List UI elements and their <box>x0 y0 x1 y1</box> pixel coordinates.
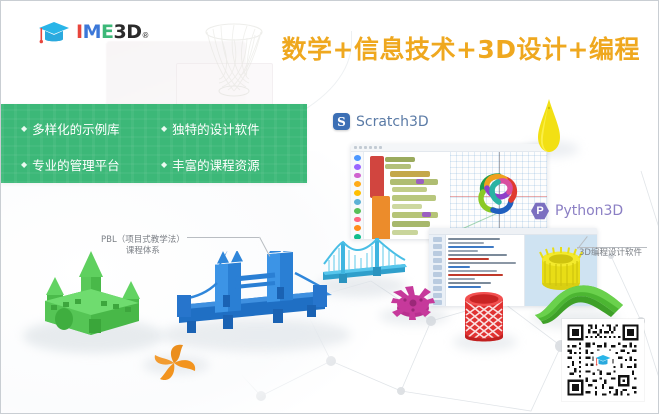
diamond-bullet-icon: ◆ <box>21 125 27 133</box>
tool-icon <box>433 244 442 249</box>
features-banner: ◆ 多样化的示例库 ◆ 独特的设计软件 ◆ 专业的管理平台 ◆ 丰富的课程资源 <box>1 104 307 183</box>
category-variables-icon <box>354 217 361 223</box>
toolbar-dot <box>374 146 377 149</box>
3d-stage-view[interactable] <box>450 152 547 239</box>
gear-flower-model <box>383 284 443 326</box>
feature-item-4: ◆ 丰富的课程资源 <box>161 155 301 174</box>
trademark-symbol: ® <box>142 31 147 40</box>
code-line <box>448 250 478 252</box>
logo-letter-e: E <box>101 23 113 42</box>
code-block <box>385 164 411 169</box>
code-block <box>392 204 422 209</box>
scratch3d-name: Scratch3D <box>356 114 429 130</box>
tool-icon <box>433 265 442 270</box>
category-myblocks-icon <box>354 225 361 231</box>
page-title: 数学+信息技术+3D设计+编程 <box>282 30 641 66</box>
propeller-model <box>143 341 205 387</box>
code-block <box>392 187 427 192</box>
tool-icon <box>433 258 442 263</box>
block-category-rail <box>351 152 364 239</box>
category-motion-icon <box>354 155 361 161</box>
code-line <box>448 238 500 240</box>
suspension-bridge-model <box>319 234 411 286</box>
hyperboloid-vase-model <box>194 21 274 101</box>
block-workspace[interactable] <box>364 152 450 239</box>
code-block <box>385 157 415 162</box>
feature-item-3: ◆ 专业的管理平台 <box>21 155 161 174</box>
code-block <box>416 179 424 184</box>
tower-bridge-model <box>167 251 337 337</box>
castle-model <box>31 249 151 339</box>
category-control-icon <box>354 190 361 196</box>
qr-code-canvas <box>565 322 641 398</box>
tool-icon <box>433 237 442 242</box>
pbl-callout-line1: PBL（项目式教学法） <box>101 235 185 245</box>
knot-model <box>473 170 525 218</box>
diamond-bullet-icon: ◆ <box>21 161 27 169</box>
tool-icon <box>433 272 442 277</box>
toolbar-dot <box>354 146 357 149</box>
scratch3d-label: Scratch3D <box>333 113 429 130</box>
code-line <box>448 246 494 248</box>
code-block <box>390 171 430 177</box>
code-block <box>392 221 430 227</box>
code-block <box>372 196 390 239</box>
code-line <box>448 282 491 284</box>
category-sensing-icon <box>354 199 361 205</box>
code-line <box>448 270 497 272</box>
code-line <box>448 262 516 264</box>
qr-code[interactable] <box>562 319 644 401</box>
code-line <box>448 254 507 256</box>
tool-icon <box>433 251 442 256</box>
feature-item-1: ◆ 多样化的示例库 <box>21 119 161 138</box>
logo-letter-3d: 3D <box>113 23 141 42</box>
python3d-name: Python3D <box>555 203 623 219</box>
software-callout: 3D编程设计软件 <box>579 248 642 259</box>
feature-label: 专业的管理平台 <box>32 155 120 174</box>
code-line <box>448 242 484 244</box>
category-sound-icon <box>354 173 361 179</box>
feature-label: 多样化的示例库 <box>32 119 120 138</box>
pen-holder-model <box>453 287 515 349</box>
code-block <box>392 212 438 218</box>
graduation-cap-icon <box>37 19 71 45</box>
pbl-callout-line2: 课程体系 <box>101 246 185 257</box>
toolbar-dot <box>359 146 362 149</box>
python3d-label: Python3D <box>531 202 623 220</box>
logo-letter-m: M <box>83 23 101 42</box>
code-line <box>448 258 489 260</box>
scratch3d-screenshot <box>351 144 547 239</box>
feature-item-2: ◆ 独特的设计软件 <box>161 119 301 138</box>
diamond-bullet-icon: ◆ <box>161 161 167 169</box>
feature-label: 独特的设计软件 <box>172 119 260 138</box>
brand-wordmark: I M E 3D ® <box>76 23 148 42</box>
category-looks-icon <box>354 164 361 170</box>
app-toolbar <box>351 144 547 152</box>
python-hexagon-icon <box>531 202 549 220</box>
diamond-bullet-icon: ◆ <box>161 125 167 133</box>
code-block <box>422 212 431 217</box>
toolbar-dot <box>364 146 367 149</box>
qr-center-logo <box>594 351 613 370</box>
toolbar-dot <box>369 146 372 149</box>
code-block <box>392 195 436 201</box>
category-events-icon <box>354 181 361 187</box>
scratch-square-icon <box>333 113 350 130</box>
code-block <box>390 179 438 185</box>
feature-label: 丰富的课程资源 <box>172 155 260 174</box>
logo-letter-i: I <box>76 23 83 42</box>
code-line <box>448 266 470 268</box>
brand-logo: I M E 3D ® <box>37 19 148 45</box>
app-menubar <box>429 228 597 235</box>
toolbar-dot <box>379 146 382 149</box>
yellow-cone-model <box>529 97 569 155</box>
pbl-callout: PBL（项目式教学法） 课程体系 <box>101 235 185 258</box>
category-operators-icon <box>354 208 361 214</box>
code-block <box>370 156 384 198</box>
poster-canvas: I M E 3D ® 数学+信息技术+3D设计+编程 ◆ 多样化的示例库 ◆ 独… <box>0 0 659 414</box>
code-line <box>448 278 475 280</box>
pbl-leader-line <box>187 237 259 238</box>
code-line <box>448 274 503 276</box>
